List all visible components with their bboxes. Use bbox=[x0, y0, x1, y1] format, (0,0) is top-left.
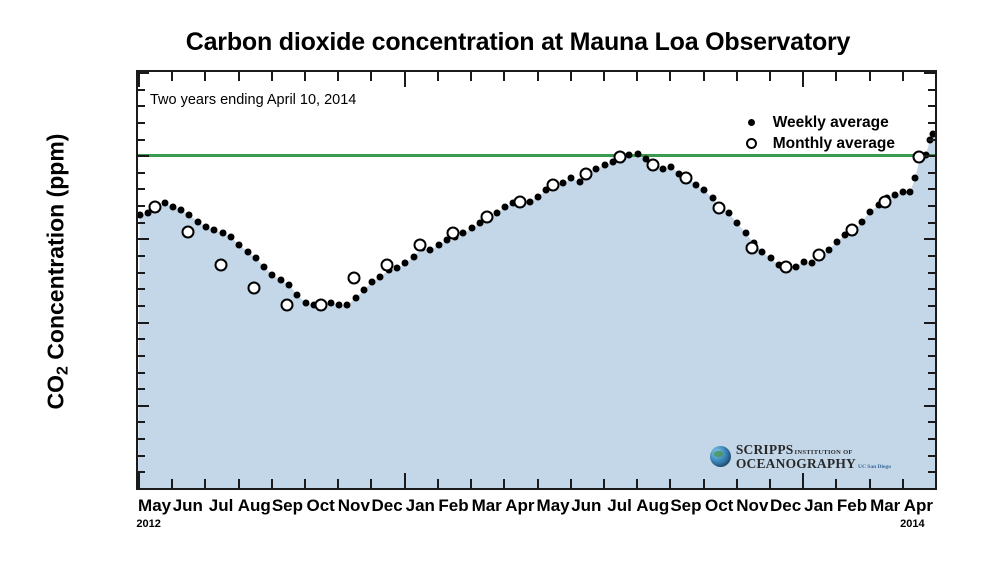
legend-item-monthly: Monthly average bbox=[739, 133, 895, 154]
weekly-data-point bbox=[327, 300, 334, 307]
weekly-data-point bbox=[709, 195, 716, 202]
weekly-data-point bbox=[410, 253, 417, 260]
legend-label-weekly: Weekly average bbox=[773, 114, 889, 132]
weekly-data-point bbox=[211, 227, 218, 234]
weekly-data-point bbox=[767, 255, 774, 262]
x-tick-label: Oct bbox=[306, 496, 334, 516]
y-tick bbox=[138, 222, 145, 224]
x-tick-top bbox=[271, 72, 273, 81]
y-tick-right bbox=[928, 105, 935, 107]
x-tick bbox=[537, 479, 539, 488]
x-tick bbox=[370, 479, 372, 488]
x-tick bbox=[470, 479, 472, 488]
y-tick bbox=[138, 455, 145, 457]
x-tick-top bbox=[802, 72, 804, 87]
x-tick-label: Dec bbox=[770, 496, 801, 516]
annotation-text: Two years ending April 10, 2014 bbox=[150, 92, 356, 108]
y-tick bbox=[138, 238, 149, 240]
weekly-marker-icon bbox=[739, 119, 765, 126]
x-tick-label: Nov bbox=[736, 496, 768, 516]
logo-line2: OCEANOGRAPHY bbox=[736, 457, 856, 471]
weekly-data-point bbox=[667, 163, 674, 170]
y-tick bbox=[138, 305, 145, 307]
x-tick-label: Aug bbox=[636, 496, 669, 516]
x-tick-top bbox=[238, 72, 240, 81]
x-tick-label: Jun bbox=[173, 496, 203, 516]
x-tick-label: May bbox=[138, 496, 171, 516]
x-tick bbox=[869, 479, 871, 488]
weekly-data-point bbox=[352, 295, 359, 302]
x-tick-top bbox=[703, 72, 705, 81]
weekly-data-point bbox=[759, 248, 766, 255]
weekly-data-point bbox=[369, 278, 376, 285]
monthly-data-point bbox=[746, 242, 759, 255]
x-tick bbox=[736, 479, 738, 488]
x-tick bbox=[271, 479, 273, 488]
x-tick-label: Aug bbox=[238, 496, 271, 516]
weekly-data-point bbox=[402, 260, 409, 267]
y-tick bbox=[138, 255, 145, 257]
logo-line2-small: UC San Diego bbox=[858, 465, 891, 471]
logo-text: SCRIPPS INSTITUTION OF OCEANOGRAPHY UC S… bbox=[736, 443, 891, 470]
x-tick bbox=[703, 479, 705, 488]
y-tick bbox=[138, 372, 145, 374]
y-tick bbox=[138, 172, 145, 174]
weekly-data-point bbox=[858, 218, 865, 225]
weekly-data-point bbox=[526, 198, 533, 205]
weekly-data-point bbox=[277, 277, 284, 284]
weekly-data-point bbox=[892, 192, 899, 199]
x-tick bbox=[902, 479, 904, 488]
globe-icon bbox=[710, 446, 731, 467]
weekly-data-point bbox=[493, 210, 500, 217]
y-tick-right bbox=[928, 305, 935, 307]
weekly-data-point bbox=[834, 238, 841, 245]
y-tick-right bbox=[928, 272, 935, 274]
y-tick bbox=[138, 338, 145, 340]
x-tick-top bbox=[470, 72, 472, 81]
monthly-data-point bbox=[679, 172, 692, 185]
y-tick bbox=[138, 122, 145, 124]
y-tick-right bbox=[924, 322, 935, 324]
y-tick bbox=[138, 355, 145, 357]
x-tick-top bbox=[437, 72, 439, 81]
legend: Weekly average Monthly average bbox=[739, 112, 895, 154]
y-tick bbox=[138, 388, 145, 390]
y-tick bbox=[138, 438, 145, 440]
monthly-data-point bbox=[281, 298, 294, 311]
monthly-data-point bbox=[513, 195, 526, 208]
weekly-data-point bbox=[427, 247, 434, 254]
y-tick-right bbox=[928, 122, 935, 124]
x-tick bbox=[603, 479, 605, 488]
weekly-data-point bbox=[286, 281, 293, 288]
weekly-data-point bbox=[825, 247, 832, 254]
y-tick-right bbox=[928, 388, 935, 390]
weekly-data-point bbox=[701, 187, 708, 194]
x-tick bbox=[503, 479, 505, 488]
y-tick-right bbox=[928, 355, 935, 357]
y-tick-right bbox=[928, 455, 935, 457]
x-tick-top bbox=[736, 72, 738, 81]
x-tick-label: Jan bbox=[406, 496, 435, 516]
weekly-data-point bbox=[261, 263, 268, 270]
plot-inner: Two years ending April 10, 2014 Weekly a… bbox=[138, 72, 935, 488]
weekly-data-point bbox=[169, 203, 176, 210]
monthly-data-point bbox=[148, 200, 161, 213]
x-tick-label: Apr bbox=[904, 496, 933, 516]
monthly-data-point bbox=[646, 159, 659, 172]
monthly-data-point bbox=[480, 210, 493, 223]
y-tick-right bbox=[924, 405, 935, 407]
y-tick-right bbox=[928, 372, 935, 374]
x-tick bbox=[636, 479, 638, 488]
weekly-data-point bbox=[535, 193, 542, 200]
weekly-data-point bbox=[294, 291, 301, 298]
y-tick-right bbox=[928, 205, 935, 207]
x-tick bbox=[138, 473, 140, 488]
y-tick bbox=[138, 288, 145, 290]
weekly-data-point bbox=[692, 182, 699, 189]
monthly-data-point bbox=[414, 239, 427, 252]
x-tick bbox=[204, 479, 206, 488]
x-tick-label: Feb bbox=[438, 496, 468, 516]
monthly-data-point bbox=[812, 249, 825, 262]
monthly-data-point bbox=[845, 224, 858, 237]
y-tick bbox=[138, 322, 149, 324]
x-tick-label: Jun bbox=[571, 496, 601, 516]
x-tick-label: Jul bbox=[607, 496, 632, 516]
weekly-data-point bbox=[560, 180, 567, 187]
x-tick-year-label: 2014 bbox=[900, 518, 924, 530]
x-tick-top bbox=[204, 72, 206, 81]
x-tick-top bbox=[404, 72, 406, 87]
weekly-data-point bbox=[930, 130, 935, 137]
weekly-data-point bbox=[460, 230, 467, 237]
x-tick-year-label: 2012 bbox=[136, 518, 160, 530]
x-tick-top bbox=[669, 72, 671, 81]
y-tick bbox=[138, 105, 145, 107]
x-tick-label: Sep bbox=[670, 496, 701, 516]
monthly-data-point bbox=[713, 202, 726, 215]
y-tick-right bbox=[928, 222, 935, 224]
x-tick-label: Feb bbox=[837, 496, 867, 516]
weekly-data-point bbox=[867, 208, 874, 215]
weekly-data-point bbox=[178, 207, 185, 214]
monthly-data-point bbox=[879, 195, 892, 208]
x-tick-top bbox=[769, 72, 771, 81]
y-tick-right bbox=[928, 89, 935, 91]
x-tick bbox=[769, 479, 771, 488]
x-tick-label: Jul bbox=[209, 496, 234, 516]
weekly-data-point bbox=[626, 152, 633, 159]
x-tick bbox=[171, 479, 173, 488]
y-tick-right bbox=[928, 139, 935, 141]
x-tick bbox=[404, 473, 406, 488]
weekly-data-point bbox=[601, 162, 608, 169]
y-axis-label-suffix: Concentration (ppm) bbox=[43, 134, 69, 367]
x-tick-label: Jan bbox=[804, 496, 833, 516]
weekly-data-point bbox=[576, 178, 583, 185]
weekly-data-point bbox=[435, 242, 442, 249]
monthly-marker-icon bbox=[739, 138, 765, 149]
x-tick-top bbox=[304, 72, 306, 81]
x-tick-label: Apr bbox=[505, 496, 534, 516]
weekly-data-point bbox=[236, 242, 243, 249]
weekly-data-point bbox=[659, 165, 666, 172]
x-tick bbox=[570, 479, 572, 488]
weekly-data-point bbox=[186, 212, 193, 219]
monthly-data-point bbox=[248, 282, 261, 295]
x-tick-label: Nov bbox=[338, 496, 370, 516]
weekly-data-point bbox=[344, 301, 351, 308]
weekly-data-point bbox=[161, 200, 168, 207]
weekly-data-point bbox=[269, 272, 276, 279]
weekly-data-point bbox=[360, 286, 367, 293]
y-tick bbox=[138, 405, 149, 407]
x-tick-top bbox=[370, 72, 372, 81]
weekly-data-point bbox=[742, 230, 749, 237]
y-tick-right bbox=[928, 172, 935, 174]
y-tick-right bbox=[928, 188, 935, 190]
weekly-data-point bbox=[634, 150, 641, 157]
y-tick bbox=[138, 205, 145, 207]
weekly-data-point bbox=[907, 188, 914, 195]
weekly-data-point bbox=[219, 230, 226, 237]
monthly-data-point bbox=[779, 260, 792, 273]
y-tick-right bbox=[928, 438, 935, 440]
x-tick-label: Oct bbox=[705, 496, 733, 516]
weekly-data-point bbox=[194, 218, 201, 225]
x-tick-label: Sep bbox=[272, 496, 303, 516]
y-axis-label-subscript: 2 bbox=[55, 366, 72, 375]
x-tick bbox=[802, 473, 804, 488]
x-tick-top bbox=[603, 72, 605, 81]
x-tick bbox=[238, 479, 240, 488]
x-tick-top bbox=[636, 72, 638, 81]
y-tick-right bbox=[928, 421, 935, 423]
x-tick-label: Mar bbox=[472, 496, 502, 516]
reference-line-400ppm bbox=[138, 154, 935, 157]
y-axis-label: CO2 Concentration (ppm) bbox=[43, 112, 70, 432]
weekly-data-point bbox=[394, 265, 401, 272]
x-tick-top bbox=[570, 72, 572, 81]
plot-area: Two years ending April 10, 2014 Weekly a… bbox=[136, 70, 937, 490]
weekly-data-point bbox=[227, 233, 234, 240]
x-tick bbox=[669, 479, 671, 488]
weekly-data-point bbox=[244, 248, 251, 255]
weekly-data-point bbox=[203, 223, 210, 230]
weekly-data-point bbox=[800, 258, 807, 265]
y-tick-right bbox=[928, 338, 935, 340]
scripps-logo: SCRIPPS INSTITUTION OF OCEANOGRAPHY UC S… bbox=[710, 443, 891, 470]
y-tick-right bbox=[924, 238, 935, 240]
y-tick bbox=[138, 272, 145, 274]
x-tick bbox=[304, 479, 306, 488]
weekly-data-point bbox=[726, 210, 733, 217]
weekly-data-point bbox=[734, 220, 741, 227]
y-tick bbox=[138, 188, 145, 190]
monthly-data-point bbox=[547, 179, 560, 192]
x-tick-label: May bbox=[537, 496, 570, 516]
weekly-data-point bbox=[809, 260, 816, 267]
weekly-data-point bbox=[468, 225, 475, 232]
y-tick-right bbox=[928, 255, 935, 257]
page-title: Carbon dioxide concentration at Mauna Lo… bbox=[0, 28, 1000, 57]
x-tick-label: Dec bbox=[371, 496, 402, 516]
chart-root: Carbon dioxide concentration at Mauna Lo… bbox=[0, 0, 1000, 570]
legend-label-monthly: Monthly average bbox=[773, 135, 895, 153]
x-tick-top bbox=[171, 72, 173, 81]
monthly-data-point bbox=[381, 259, 394, 272]
monthly-data-point bbox=[314, 298, 327, 311]
y-axis-label-prefix: CO bbox=[43, 375, 69, 410]
weekly-data-point bbox=[912, 175, 919, 182]
y-tick bbox=[138, 421, 145, 423]
weekly-data-point bbox=[377, 273, 384, 280]
monthly-data-point bbox=[613, 150, 626, 163]
x-tick bbox=[437, 479, 439, 488]
legend-item-weekly: Weekly average bbox=[739, 112, 895, 133]
x-tick bbox=[835, 479, 837, 488]
x-tick-top bbox=[869, 72, 871, 81]
weekly-data-point bbox=[302, 300, 309, 307]
y-tick-right bbox=[924, 72, 935, 74]
weekly-data-point bbox=[335, 301, 342, 308]
y-tick bbox=[138, 89, 145, 91]
x-tick-label: Mar bbox=[870, 496, 900, 516]
weekly-data-point bbox=[792, 263, 799, 270]
x-tick bbox=[337, 479, 339, 488]
monthly-data-point bbox=[215, 259, 228, 272]
logo-line1: SCRIPPS bbox=[736, 443, 794, 457]
monthly-data-point bbox=[347, 272, 360, 285]
y-tick-right bbox=[928, 288, 935, 290]
x-tick-top bbox=[835, 72, 837, 81]
monthly-data-point bbox=[181, 225, 194, 238]
weekly-data-point bbox=[501, 203, 508, 210]
weekly-data-point bbox=[568, 175, 575, 182]
x-tick-top bbox=[537, 72, 539, 81]
x-tick-top bbox=[138, 72, 140, 87]
weekly-data-point bbox=[593, 165, 600, 172]
monthly-data-point bbox=[580, 167, 593, 180]
x-tick-top bbox=[337, 72, 339, 81]
y-tick bbox=[138, 139, 145, 141]
x-tick-top bbox=[902, 72, 904, 81]
y-tick bbox=[138, 155, 149, 157]
x-tick-top bbox=[503, 72, 505, 81]
weekly-data-point bbox=[252, 255, 259, 262]
y-tick-right bbox=[924, 155, 935, 157]
monthly-data-point bbox=[447, 227, 460, 240]
y-tick-right bbox=[928, 471, 935, 473]
